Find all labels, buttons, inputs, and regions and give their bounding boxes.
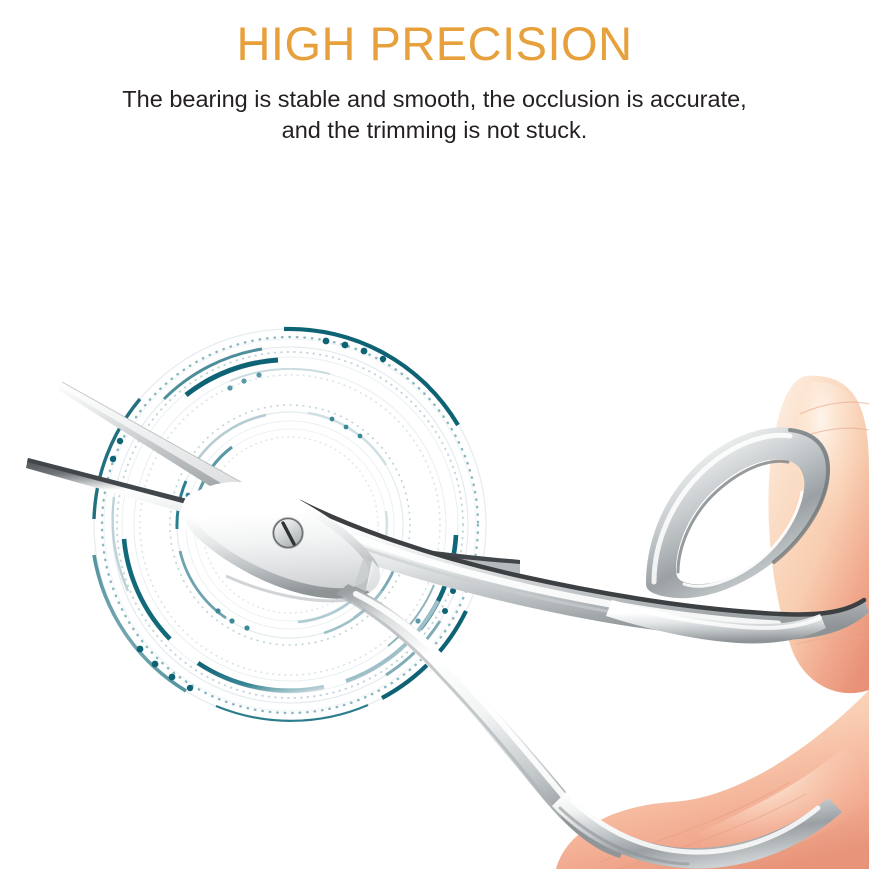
lower-shank-shadow — [344, 598, 560, 816]
page-subtitle: The bearing is stable and smooth, the oc… — [0, 72, 869, 146]
subtitle-line-1: The bearing is stable and smooth, the oc… — [0, 84, 869, 115]
subtitle-line-2: and the trimming is not stuck. — [0, 115, 869, 146]
header-block: HIGH PRECISION The bearing is stable and… — [0, 0, 869, 146]
pivot-screw — [272, 517, 304, 549]
page-title: HIGH PRECISION — [0, 0, 869, 72]
product-feature-image: HIGH PRECISION The bearing is stable and… — [0, 0, 869, 869]
